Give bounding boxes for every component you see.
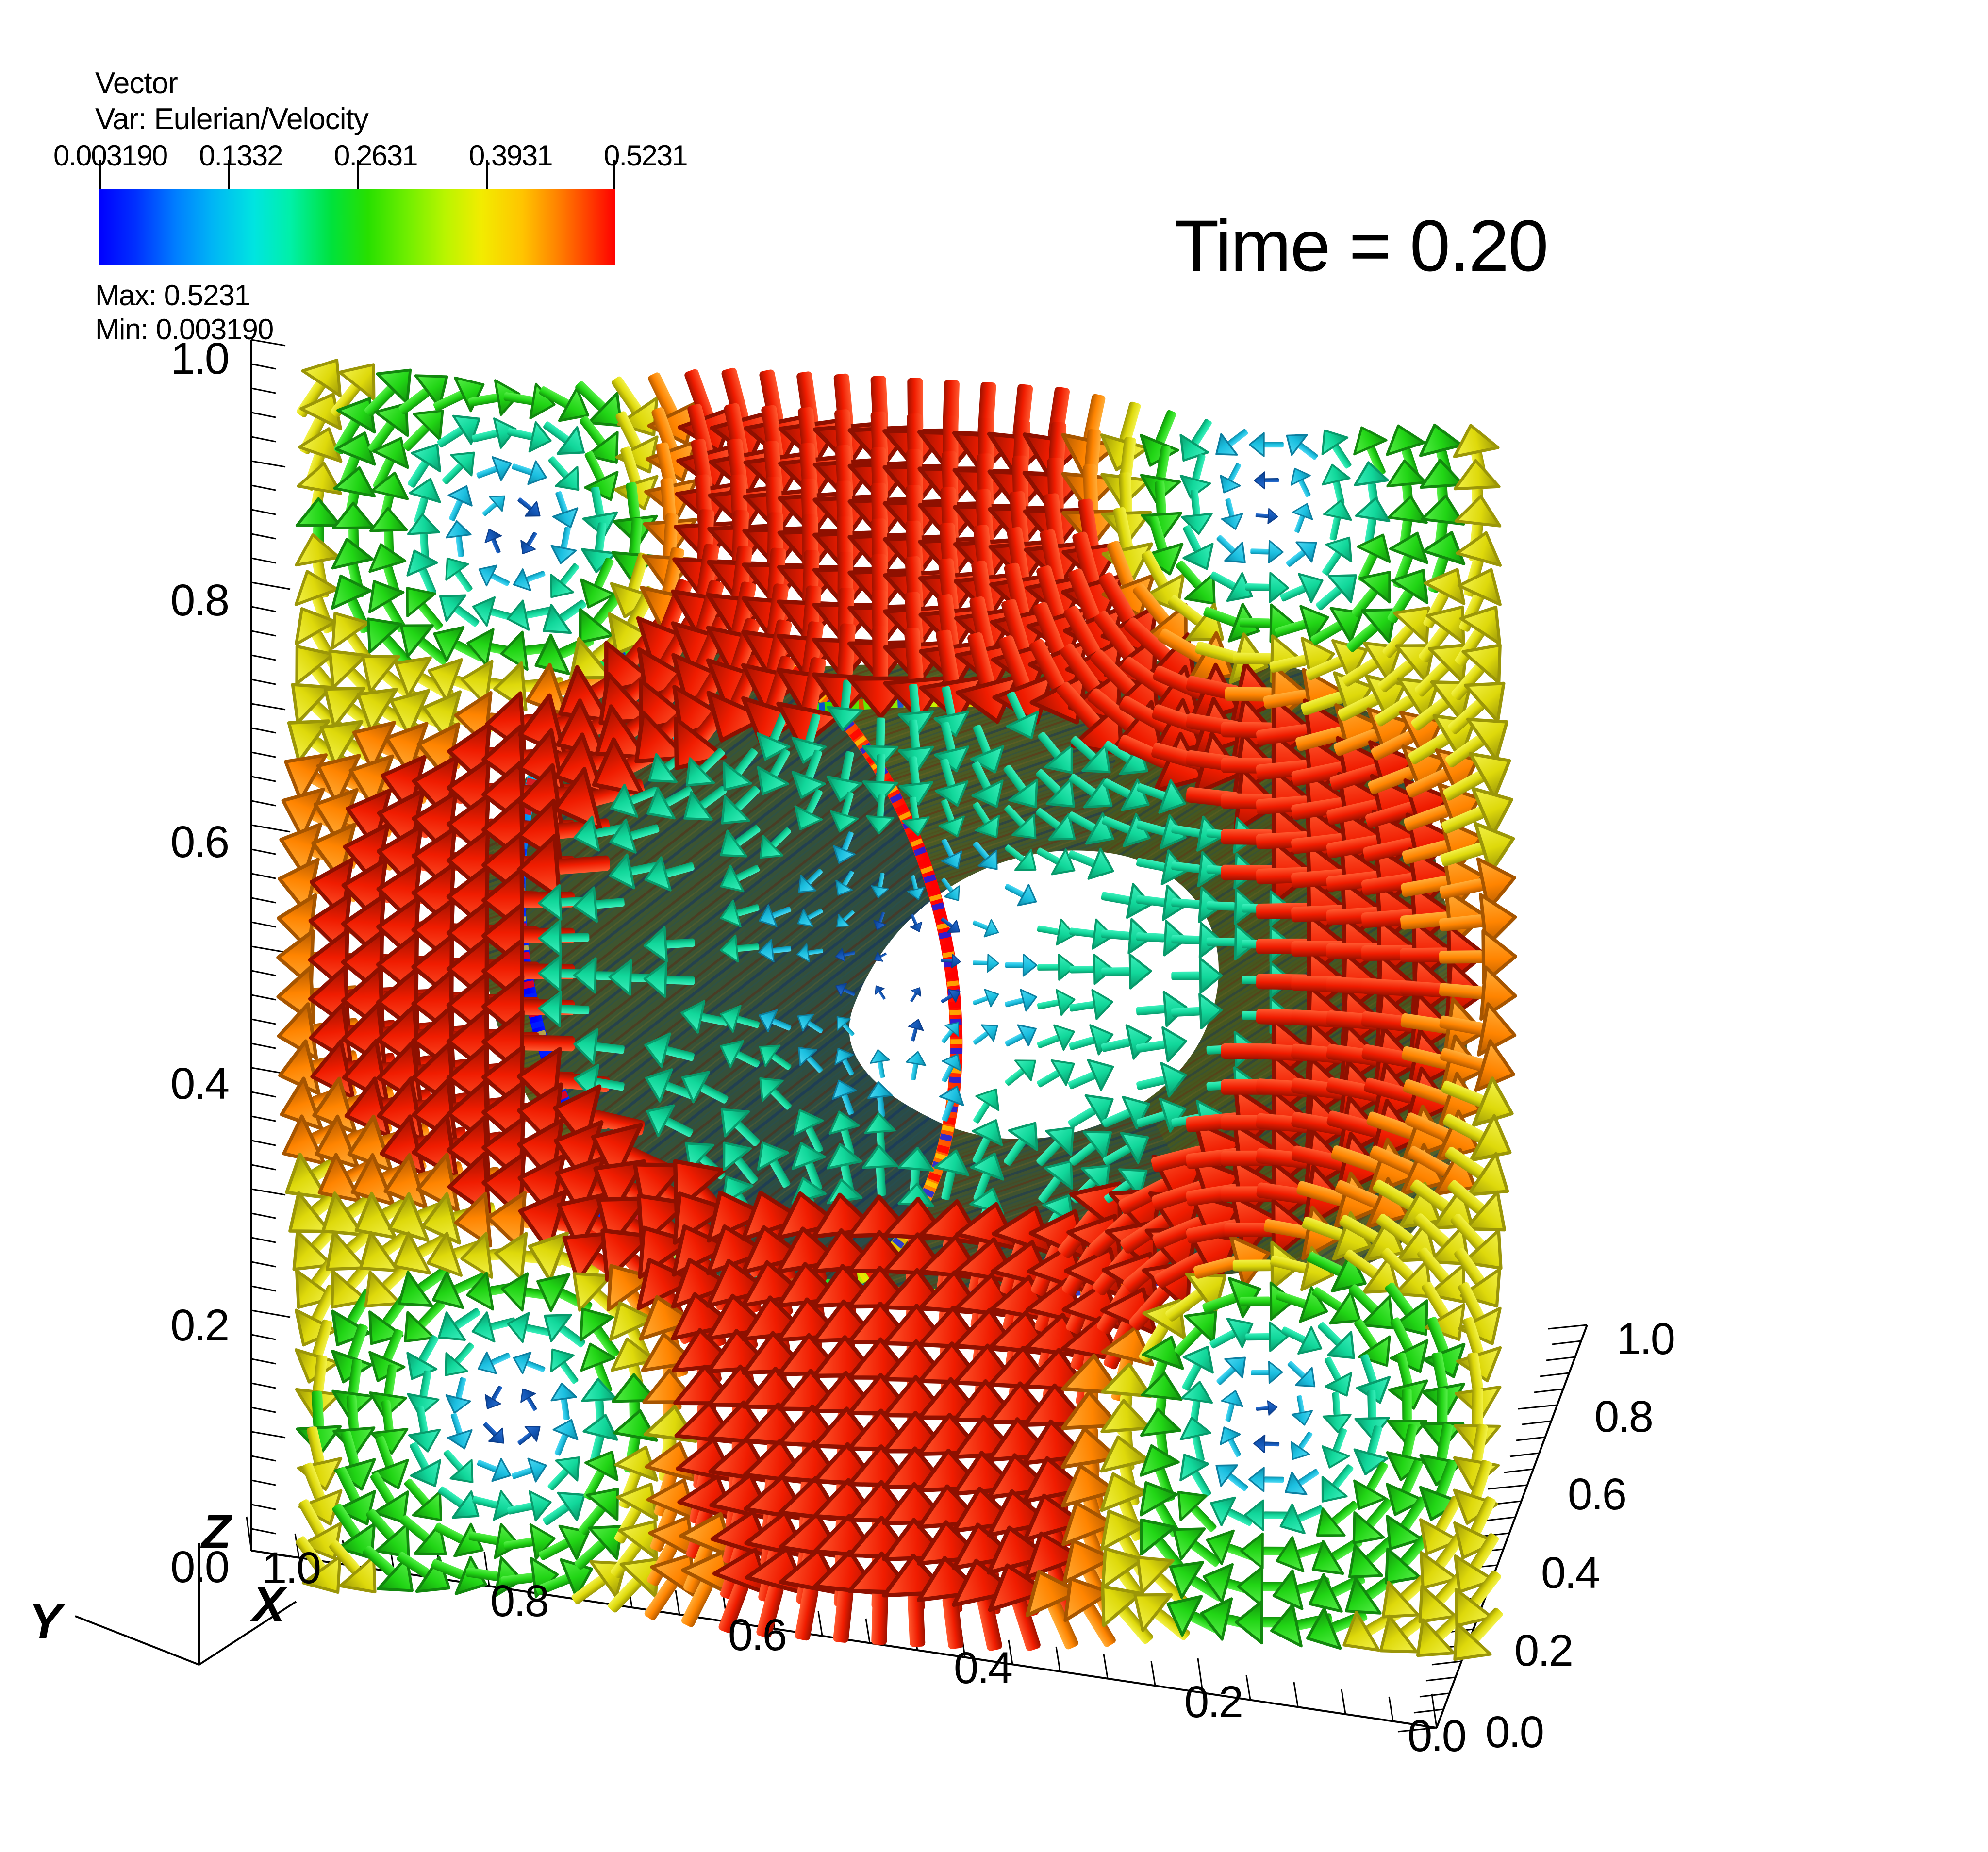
vector-arrow (435, 1335, 483, 1384)
vector-arrow (1217, 496, 1246, 532)
axis-letter-x: X (250, 1577, 287, 1632)
vector-arrow (1170, 412, 1223, 469)
colorbar-tick-lines (100, 160, 614, 189)
z-tick-1.0: 1.0 (170, 334, 228, 383)
vector-arrow (469, 1485, 519, 1524)
vector-arrow (443, 1374, 476, 1416)
vector-arrow (1209, 528, 1254, 572)
x-tick-0.8: 0.8 (490, 1576, 548, 1626)
vector-arrow (510, 1347, 549, 1380)
z-tick-0.4: 0.4 (170, 1059, 229, 1108)
vector-arrow (1284, 1426, 1320, 1465)
x-tick-0.4: 0.4 (954, 1643, 1012, 1693)
vector-arrow (546, 488, 583, 532)
vector-arrow (1209, 420, 1255, 464)
vector-arrow (407, 513, 441, 561)
vector-arrow (1289, 1394, 1314, 1427)
y-tick-1.0: 1.0 (1616, 1314, 1674, 1364)
vector-arrow (466, 1519, 522, 1562)
vector-arrow (1278, 1460, 1325, 1503)
vector-arrow (474, 1344, 514, 1380)
vector-arrow (1322, 1391, 1352, 1433)
vector-arrow (1214, 459, 1249, 498)
vector-arrow (1209, 1348, 1254, 1392)
vector-arrow (445, 519, 473, 558)
vector-arrow (1251, 1361, 1283, 1384)
vector-arrow (515, 1385, 543, 1415)
z-axis-ticks (251, 340, 290, 1557)
vector-arrow (1176, 1415, 1216, 1465)
x-tick-0.2: 0.2 (1184, 1677, 1242, 1727)
axis-letter-z: Z (200, 1505, 233, 1559)
vector-arrow (469, 593, 519, 632)
z-tick-0.2: 0.2 (170, 1301, 228, 1350)
vector-arrow (1217, 1388, 1246, 1424)
y-tick-0.0: 0.0 (1485, 1707, 1543, 1757)
vector-arrow (481, 526, 507, 557)
vector-arrow (540, 448, 589, 499)
vector-arrow (1249, 1468, 1284, 1492)
vector-arrow (1355, 1389, 1389, 1439)
plot-area: 1.0 0.8 0.6 0.4 0.2 0.0 1.0 0.8 0.6 0.4 … (0, 0, 1988, 1852)
z-axis-labels: 1.0 0.8 0.6 0.4 0.2 0.0 (170, 334, 229, 1592)
vector-arrow (510, 562, 548, 595)
y-tick-0.8: 0.8 (1594, 1392, 1652, 1441)
vector-arrow (1281, 1354, 1323, 1395)
vector-arrow (1214, 1422, 1249, 1461)
x-tick-0.0: 0.0 (1408, 1711, 1465, 1761)
vector-arrow (515, 528, 543, 558)
vector-arrow (473, 1451, 515, 1487)
vector-arrow (1319, 462, 1355, 508)
y-tick-0.6: 0.6 (1568, 1470, 1625, 1519)
vector-arrow (545, 1415, 583, 1460)
vector-arrow (1250, 433, 1284, 456)
vector-arrow (501, 379, 557, 422)
vector-arrow (1280, 533, 1324, 575)
vector-arrow (1255, 508, 1278, 524)
z-tick-0.8: 0.8 (170, 576, 228, 625)
vector-arrow (434, 443, 484, 493)
vector-arrow (477, 489, 511, 522)
vector-arrow (473, 452, 515, 488)
vector-arrow (474, 559, 514, 594)
vector-arrow (580, 521, 619, 575)
axis-letter-y: Y (29, 1594, 66, 1649)
vector-arrow (435, 1442, 483, 1491)
y-tick-0.4: 0.4 (1541, 1548, 1599, 1598)
vector-arrow (440, 481, 478, 526)
vector-arrow (549, 1382, 580, 1422)
vector-arrow (1209, 1455, 1255, 1500)
z-tick-0.6: 0.6 (170, 817, 228, 867)
vector-arrow (1250, 540, 1283, 563)
vector-arrow (513, 1420, 546, 1451)
vector-arrow (509, 1454, 550, 1488)
vector-arrow (1285, 464, 1318, 501)
vector-arrow (478, 1417, 510, 1449)
visualization-canvas: Vector Var: Eulerian/Velocity 0.003190 0… (0, 0, 1988, 1852)
x-tick-0.6: 0.6 (728, 1610, 786, 1660)
vector-arrow (480, 1382, 509, 1413)
vector-arrow (513, 492, 546, 523)
vector-arrow (1319, 497, 1355, 543)
vector-arrow (1256, 1400, 1278, 1417)
vector-arrow (548, 525, 580, 566)
vector-arrow (539, 1448, 590, 1499)
vector-arrow (1287, 500, 1317, 536)
vector-arrow (1254, 472, 1279, 489)
y-tick-0.2: 0.2 (1514, 1626, 1572, 1675)
vector-arrow (1254, 1435, 1280, 1453)
vector-arrow (442, 1410, 477, 1453)
vector-arrow (508, 455, 550, 489)
vector-arrow (436, 550, 481, 598)
vector-arrow (1279, 426, 1325, 468)
y-axis-labels: 1.0 0.8 0.6 0.4 0.2 0.0 (1485, 1314, 1674, 1757)
vector-arrow (541, 1341, 587, 1390)
